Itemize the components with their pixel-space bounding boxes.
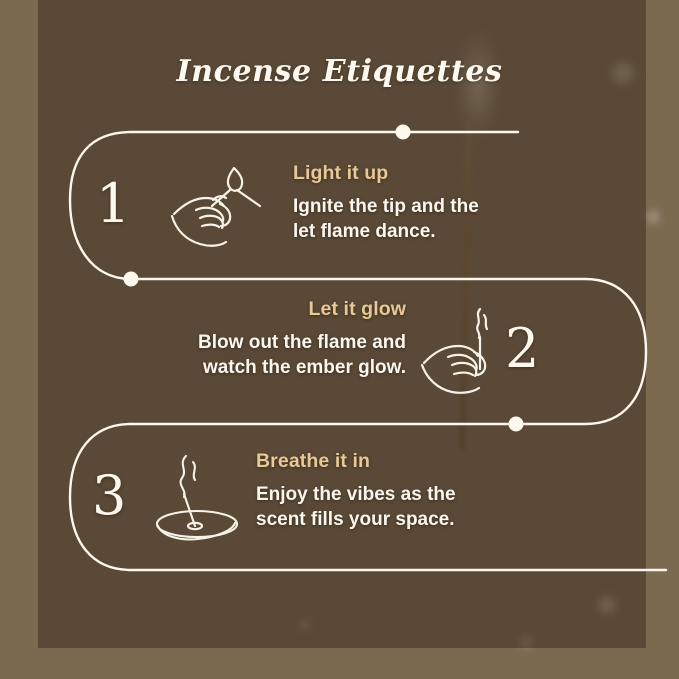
step-3-body-line-2: scent fills your space. (256, 507, 518, 532)
path-junction-dot (509, 417, 524, 432)
step-2-text-block: Let it glow Blow out the flame and watch… (140, 298, 406, 380)
step-3-text-block: Breathe it in Enjoy the vibes as the sce… (256, 450, 518, 532)
incense-stick-in-holder-icon (140, 450, 252, 542)
step-2-heading: Let it glow (140, 298, 406, 321)
step-1-heading: Light it up (293, 162, 543, 185)
step-1-text-block: Light it up Ignite the tip and the let f… (293, 162, 543, 244)
hand-blowing-out-flame-icon (418, 305, 526, 395)
path-junction-dot (396, 125, 411, 140)
step-3-heading: Breathe it in (256, 450, 518, 473)
step-1-number: 1 (96, 177, 130, 231)
incense-etiquettes-graphic: Incense Etiquettes 1 (0, 0, 679, 679)
path-junction-dot (124, 272, 139, 287)
step-2-body-line-1: Blow out the flame and (140, 330, 406, 355)
step-2-body-line-2: watch the ember glow. (140, 355, 406, 380)
step-3-body-line-1: Enjoy the vibes as the (256, 482, 518, 507)
step-1-body-line-2: let flame dance. (293, 219, 543, 244)
hand-holding-lit-match-icon (162, 160, 274, 252)
page-title: Incense Etiquettes (0, 54, 679, 89)
step-1-body-line-1: Ignite the tip and the (293, 194, 543, 219)
step-3-number: 3 (92, 469, 126, 523)
